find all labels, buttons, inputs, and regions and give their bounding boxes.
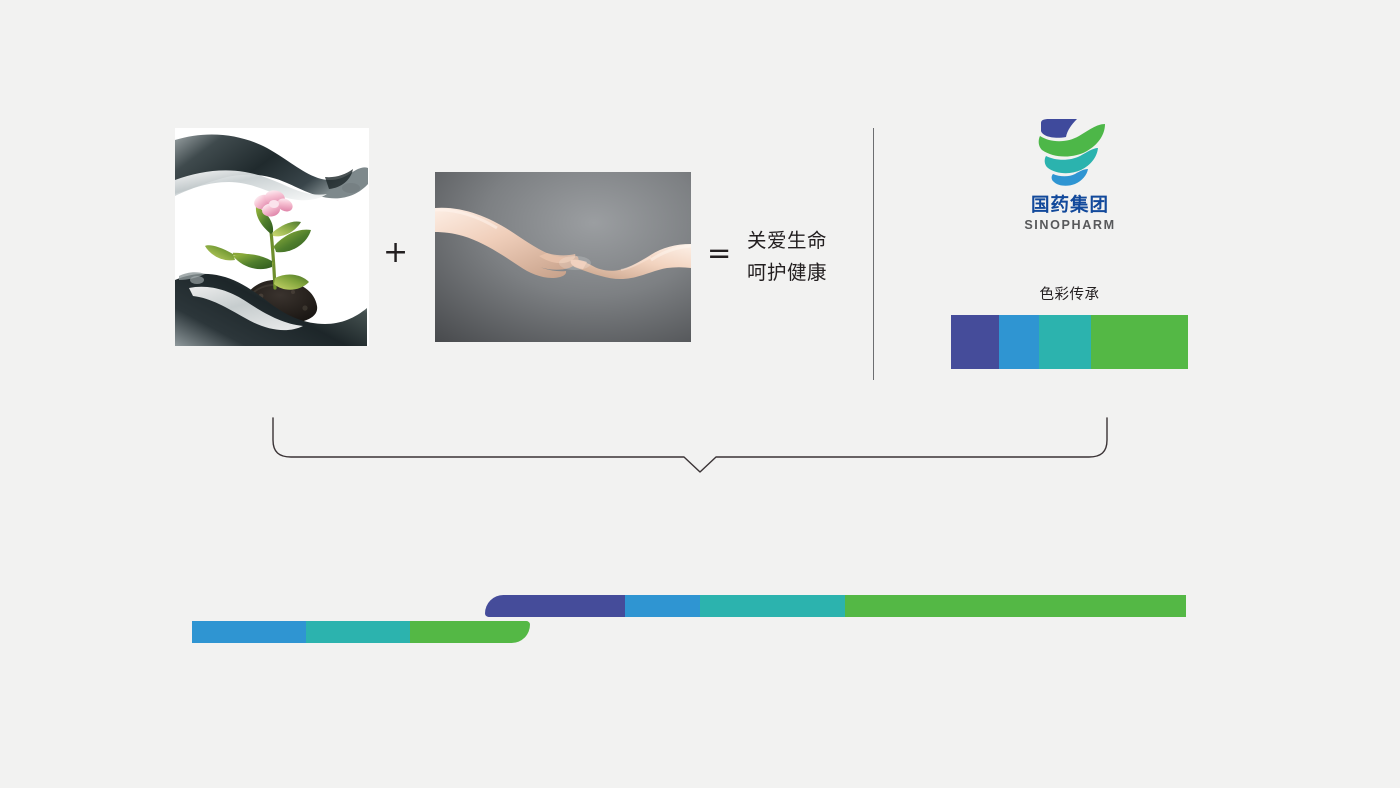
palette-swatch-teal bbox=[1039, 315, 1091, 369]
palette-swatch-indigo bbox=[951, 315, 999, 369]
summary-brace bbox=[260, 400, 1120, 480]
hands-cupping-seedling-image bbox=[175, 128, 369, 346]
color-palette-bar bbox=[951, 315, 1188, 369]
palette-swatch-green bbox=[1091, 315, 1188, 369]
plus-operator: + bbox=[383, 238, 408, 268]
ribbon-segment-indigo bbox=[485, 595, 625, 617]
ribbon-segment-blue bbox=[192, 621, 306, 643]
equals-operator: = bbox=[707, 239, 731, 268]
palette-swatch-blue bbox=[999, 315, 1039, 369]
ribbon-bars bbox=[0, 0, 1400, 788]
ribbon-segment-green bbox=[410, 621, 530, 643]
logo-chinese-name: 国药集团 bbox=[1000, 196, 1140, 216]
ribbon-bar-bottom bbox=[192, 621, 530, 643]
ribbon-bar-top bbox=[485, 595, 1186, 617]
slogan-line-2: 呵护健康 bbox=[747, 257, 867, 289]
vertical-divider bbox=[873, 128, 874, 380]
sinopharm-logo: 国药集团 SINOPHARM bbox=[1000, 112, 1140, 232]
brand-identity-slide: + bbox=[0, 0, 1400, 788]
ribbon-segment-green bbox=[845, 595, 1186, 617]
ribbon-segment-blue bbox=[625, 595, 700, 617]
two-hands-reaching-image bbox=[435, 172, 691, 342]
sinopharm-ribbon-mark bbox=[1025, 112, 1115, 194]
logo-english-name: SINOPHARM bbox=[1000, 218, 1140, 232]
palette-label: 色彩传承 bbox=[951, 283, 1188, 304]
slogan-line-1: 关爱生命 bbox=[747, 225, 867, 257]
slogan-text: 关爱生命 呵护健康 bbox=[747, 225, 867, 289]
ribbon-segment-teal bbox=[700, 595, 845, 617]
ribbon-segment-teal bbox=[306, 621, 410, 643]
